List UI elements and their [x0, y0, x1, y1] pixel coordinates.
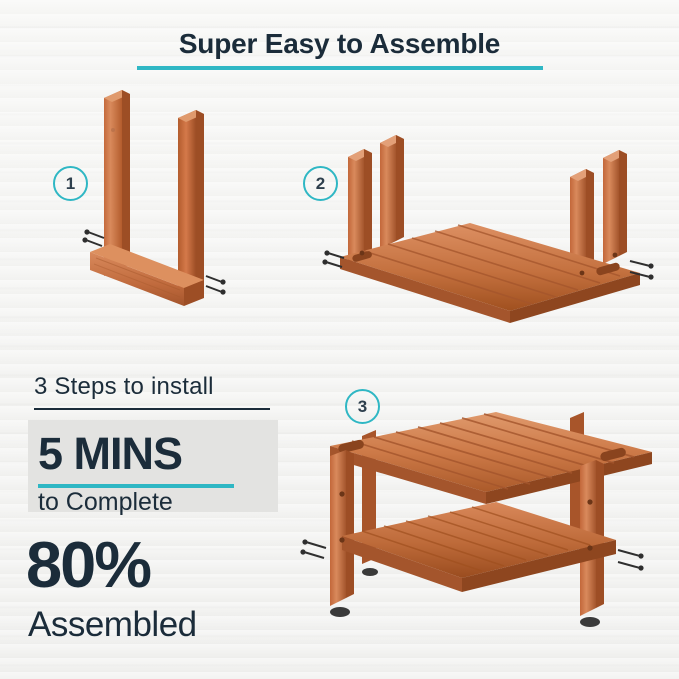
figure-step-2 [320, 125, 660, 340]
steps-to-install-label: 3 Steps to install [34, 373, 214, 401]
callout-divider [34, 408, 270, 410]
time-sub-label: to Complete [38, 488, 173, 517]
step-badge-1: 1 [53, 166, 88, 201]
figure-step-3 [300, 390, 670, 655]
figure-step-1 [60, 80, 280, 320]
percent-value: 80% [26, 530, 150, 600]
step-badge-3: 3 [345, 389, 380, 424]
percent-sub-label: Assembled [28, 605, 197, 645]
title-underline [137, 66, 543, 70]
page-title: Super Easy to Assemble [0, 28, 679, 60]
time-value: 5 MINS [38, 428, 182, 480]
step-badge-2: 2 [303, 166, 338, 201]
